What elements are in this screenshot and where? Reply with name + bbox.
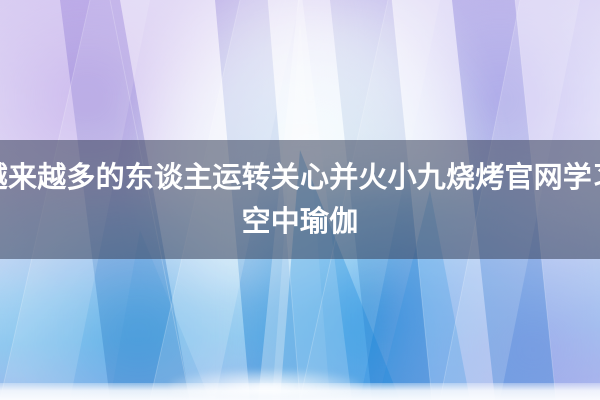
promo-banner: 越来越多的东谈主运转关心并火小九烧烤官网学习 空中瑜伽	[0, 0, 600, 400]
bottom-center-glow	[170, 370, 360, 396]
headline-line-2: 空中瑜伽	[242, 200, 359, 244]
headline-block: 越来越多的东谈主运转关心并火小九烧烤官网学习 空中瑜伽	[0, 140, 600, 259]
headline-line-1: 越来越多的东谈主运转关心并火小九烧烤官网学习	[0, 156, 600, 200]
